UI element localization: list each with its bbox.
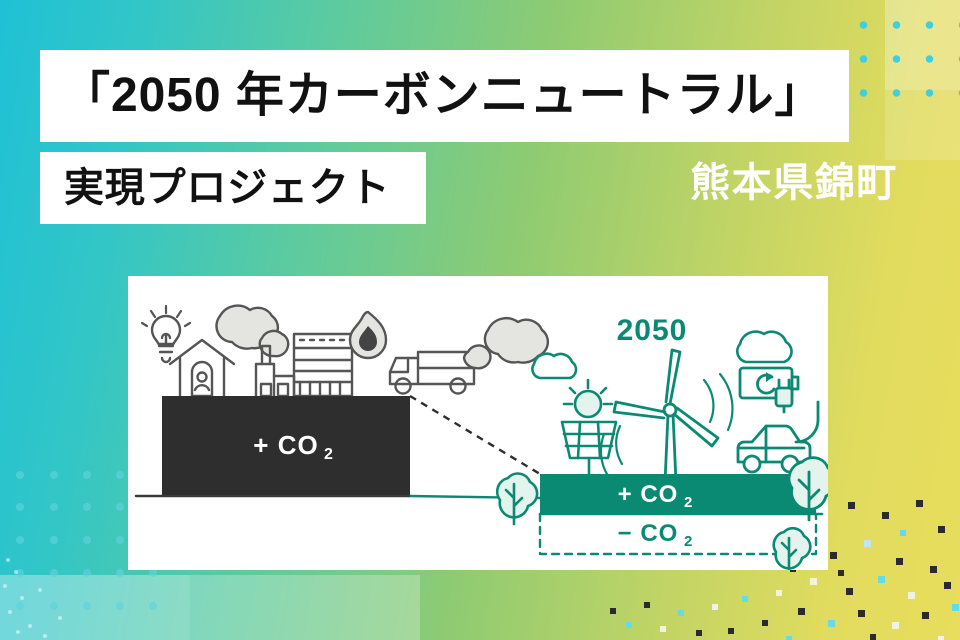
tree-icon: [774, 528, 811, 570]
co2-high-label: + CO: [253, 430, 318, 460]
house-icon: [170, 340, 234, 396]
year-2050-label: 2050: [617, 314, 688, 347]
poster-canvas: 「2050 年カーボンニュートラル」 実現プロジェクト 熊本県錦町: [0, 0, 960, 640]
region-label: 熊本県錦町: [690, 163, 898, 203]
wind-turbine-icon: [601, 350, 733, 482]
decorative-dot-grid-top-right: [842, 2, 960, 106]
illustration-panel: + CO 2 2050: [128, 276, 828, 570]
left-scene: + CO 2: [136, 306, 548, 496]
title-line-2-box: 実現プロジェクト: [40, 152, 426, 224]
title-line-1-text: 「2050 年カーボンニュートラル」: [62, 72, 823, 120]
title-line-1-box: 「2050 年カーボンニュートラル」: [40, 50, 849, 142]
dashed-connector-top: [410, 396, 540, 474]
carbon-neutral-illustration: + CO 2 2050: [128, 276, 828, 570]
title-line-2-text: 実現プロジェクト: [64, 168, 390, 208]
right-scene: 2050: [497, 314, 828, 570]
flame-icon: [350, 312, 386, 358]
co2-negative-label: − CO: [618, 520, 679, 547]
co2-neutral-subscript: 2: [684, 494, 692, 511]
smoke-cloud-icon: [216, 306, 288, 357]
truck-icon: [390, 352, 474, 394]
co2-high-subscript: 2: [324, 446, 333, 463]
cloud-icon: [532, 354, 576, 378]
solar-panel-icon: [552, 380, 626, 482]
tree-icon: [497, 474, 537, 524]
co2-negative-subscript: 2: [684, 533, 692, 550]
cloud-icon: [737, 332, 791, 362]
office-building-icon: [294, 334, 352, 396]
co2-neutral-label: + CO: [618, 481, 679, 508]
